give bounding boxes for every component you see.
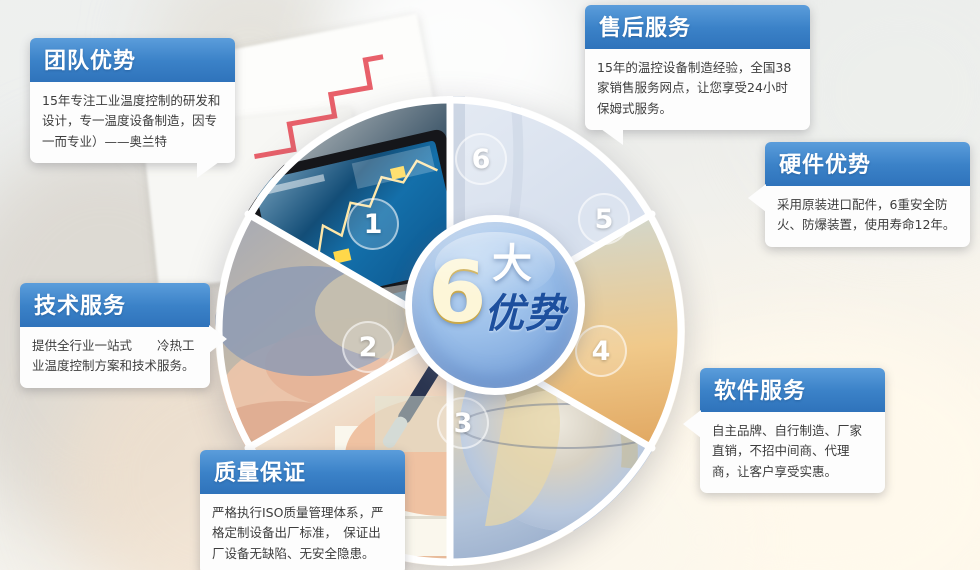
card-team-advantage[interactable]: 团队优势 15年专注工业温度控制的研发和设计，专一温度设备制造，因专一而专业）—… (30, 38, 235, 163)
card-technical-service[interactable]: 技术服务 提供全行业一站式 冷热工业温度控制方案和技术服务。 (20, 283, 210, 388)
card-team-title: 团队优势 (30, 38, 235, 82)
card-software-body: 自主品牌、自行制造、厂家直销，不招中间商、代理商，让客户享受实惠。 (700, 412, 885, 493)
card-after-sales-title: 售后服务 (585, 5, 810, 49)
center-emblem: 6 大 优势 (405, 215, 585, 395)
card-pointer (197, 162, 219, 178)
segment-number-3[interactable]: 3 (437, 397, 489, 449)
card-technical-title: 技术服务 (20, 283, 210, 327)
card-software-title: 软件服务 (700, 368, 885, 412)
segment-number-1[interactable]: 1 (347, 198, 399, 250)
card-hardware-title: 硬件优势 (765, 142, 970, 186)
card-team-body: 15年专注工业温度控制的研发和设计，专一温度设备制造，因专一而专业）——奥兰特 (30, 82, 235, 163)
card-quality-body: 严格执行ISO质量管理体系，严格定制设备出厂标准， 保证出厂设备无缺陷、无安全隐… (200, 494, 405, 570)
card-hardware-body: 采用原装进口配件，6重安全防火、防爆装置，使用寿命12年。 (765, 186, 970, 247)
card-pointer (601, 129, 623, 145)
segment-number-6[interactable]: 6 (455, 133, 507, 185)
card-quality-title: 质量保证 (200, 450, 405, 494)
segment-number-4[interactable]: 4 (575, 325, 627, 377)
center-unit: 大 (492, 244, 532, 284)
segment-number-5[interactable]: 5 (578, 193, 630, 245)
card-software-service[interactable]: 软件服务 自主品牌、自行制造、厂家直销，不招中间商、代理商，让客户享受实惠。 (700, 368, 885, 493)
card-hardware-advantage[interactable]: 硬件优势 采用原装进口配件，6重安全防火、防爆装置，使用寿命12年。 (765, 142, 970, 247)
card-after-sales[interactable]: 售后服务 15年的温控设备制造经验，全国38家销售服务网点，让您享受24小时保姆… (585, 5, 810, 130)
center-number: 6 (428, 250, 486, 334)
card-pointer (748, 184, 766, 212)
center-word: 优势 (484, 292, 566, 336)
segment-number-2[interactable]: 2 (342, 321, 394, 373)
card-pointer (209, 325, 227, 353)
center-emblem-inner: 6 大 优势 (412, 222, 578, 388)
card-pointer (683, 410, 701, 438)
infographic-canvas: 1 2 3 4 5 6 6 大 优势 团队优势 15年专注工业温度控制的研发和设… (0, 0, 980, 570)
card-after-sales-body: 15年的温控设备制造经验，全国38家销售服务网点，让您享受24小时保姆式服务。 (585, 49, 810, 130)
card-technical-body: 提供全行业一站式 冷热工业温度控制方案和技术服务。 (20, 327, 210, 388)
card-quality-assurance[interactable]: 质量保证 严格执行ISO质量管理体系，严格定制设备出厂标准， 保证出厂设备无缺陷… (200, 450, 405, 570)
